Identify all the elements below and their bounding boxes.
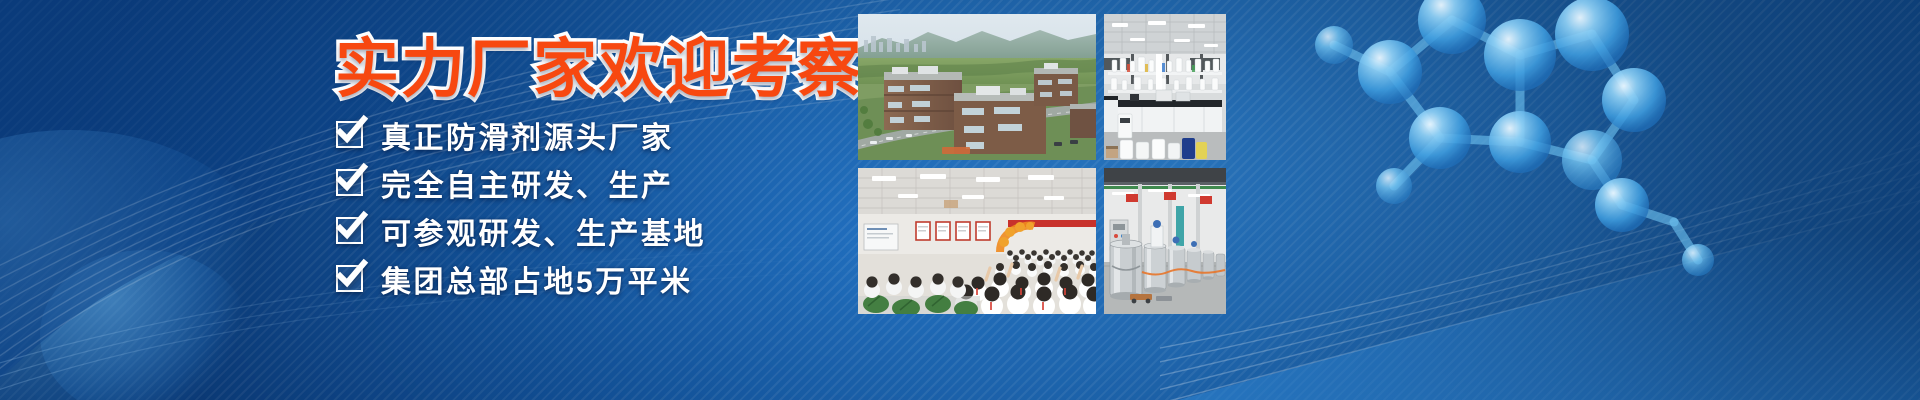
molecule-structure-graphic: [1262, 0, 1902, 320]
laboratory-photo: [1104, 14, 1226, 160]
checkbox-checked-icon: [336, 169, 363, 196]
checkbox-checked-icon: [336, 217, 363, 244]
banner-headline: 实力厂家 欢迎考察: [335, 25, 855, 103]
aerial-campus-photo: [858, 14, 1096, 160]
staff-assembly-photo: [858, 168, 1096, 314]
feature-item-2: 完全自主研发、生产: [336, 160, 816, 205]
production-tanks-photo: [1104, 168, 1226, 314]
feature-label: 集团总部占地5万平米: [381, 257, 693, 301]
glow-blob-lower-left: [40, 250, 250, 400]
promo-banner: 实力厂家 欢迎考察 真正防滑剂源头厂家 完全自主研发、生产: [0, 0, 1920, 400]
glow-blob-left: [0, 130, 280, 400]
flowing-curve-lines-right-graphic: [1160, 140, 1920, 400]
checkbox-checked-icon: [336, 265, 363, 292]
feature-item-1: 真正防滑剂源头厂家: [336, 112, 816, 157]
feature-label: 真正防滑剂源头厂家: [381, 113, 674, 157]
headline-part-2: 欢迎考察: [599, 18, 863, 110]
feature-item-4: 集团总部占地5万平米: [336, 256, 816, 301]
feature-item-3: 可参观研发、生产基地: [336, 208, 816, 253]
headline-part-1: 实力厂家: [335, 18, 599, 110]
feature-label: 完全自主研发、生产: [381, 161, 674, 205]
feature-label: 可参观研发、生产基地: [381, 209, 706, 253]
feature-list: 真正防滑剂源头厂家 完全自主研发、生产 可参观研发、生产基地: [336, 112, 816, 304]
checkbox-checked-icon: [336, 121, 363, 148]
